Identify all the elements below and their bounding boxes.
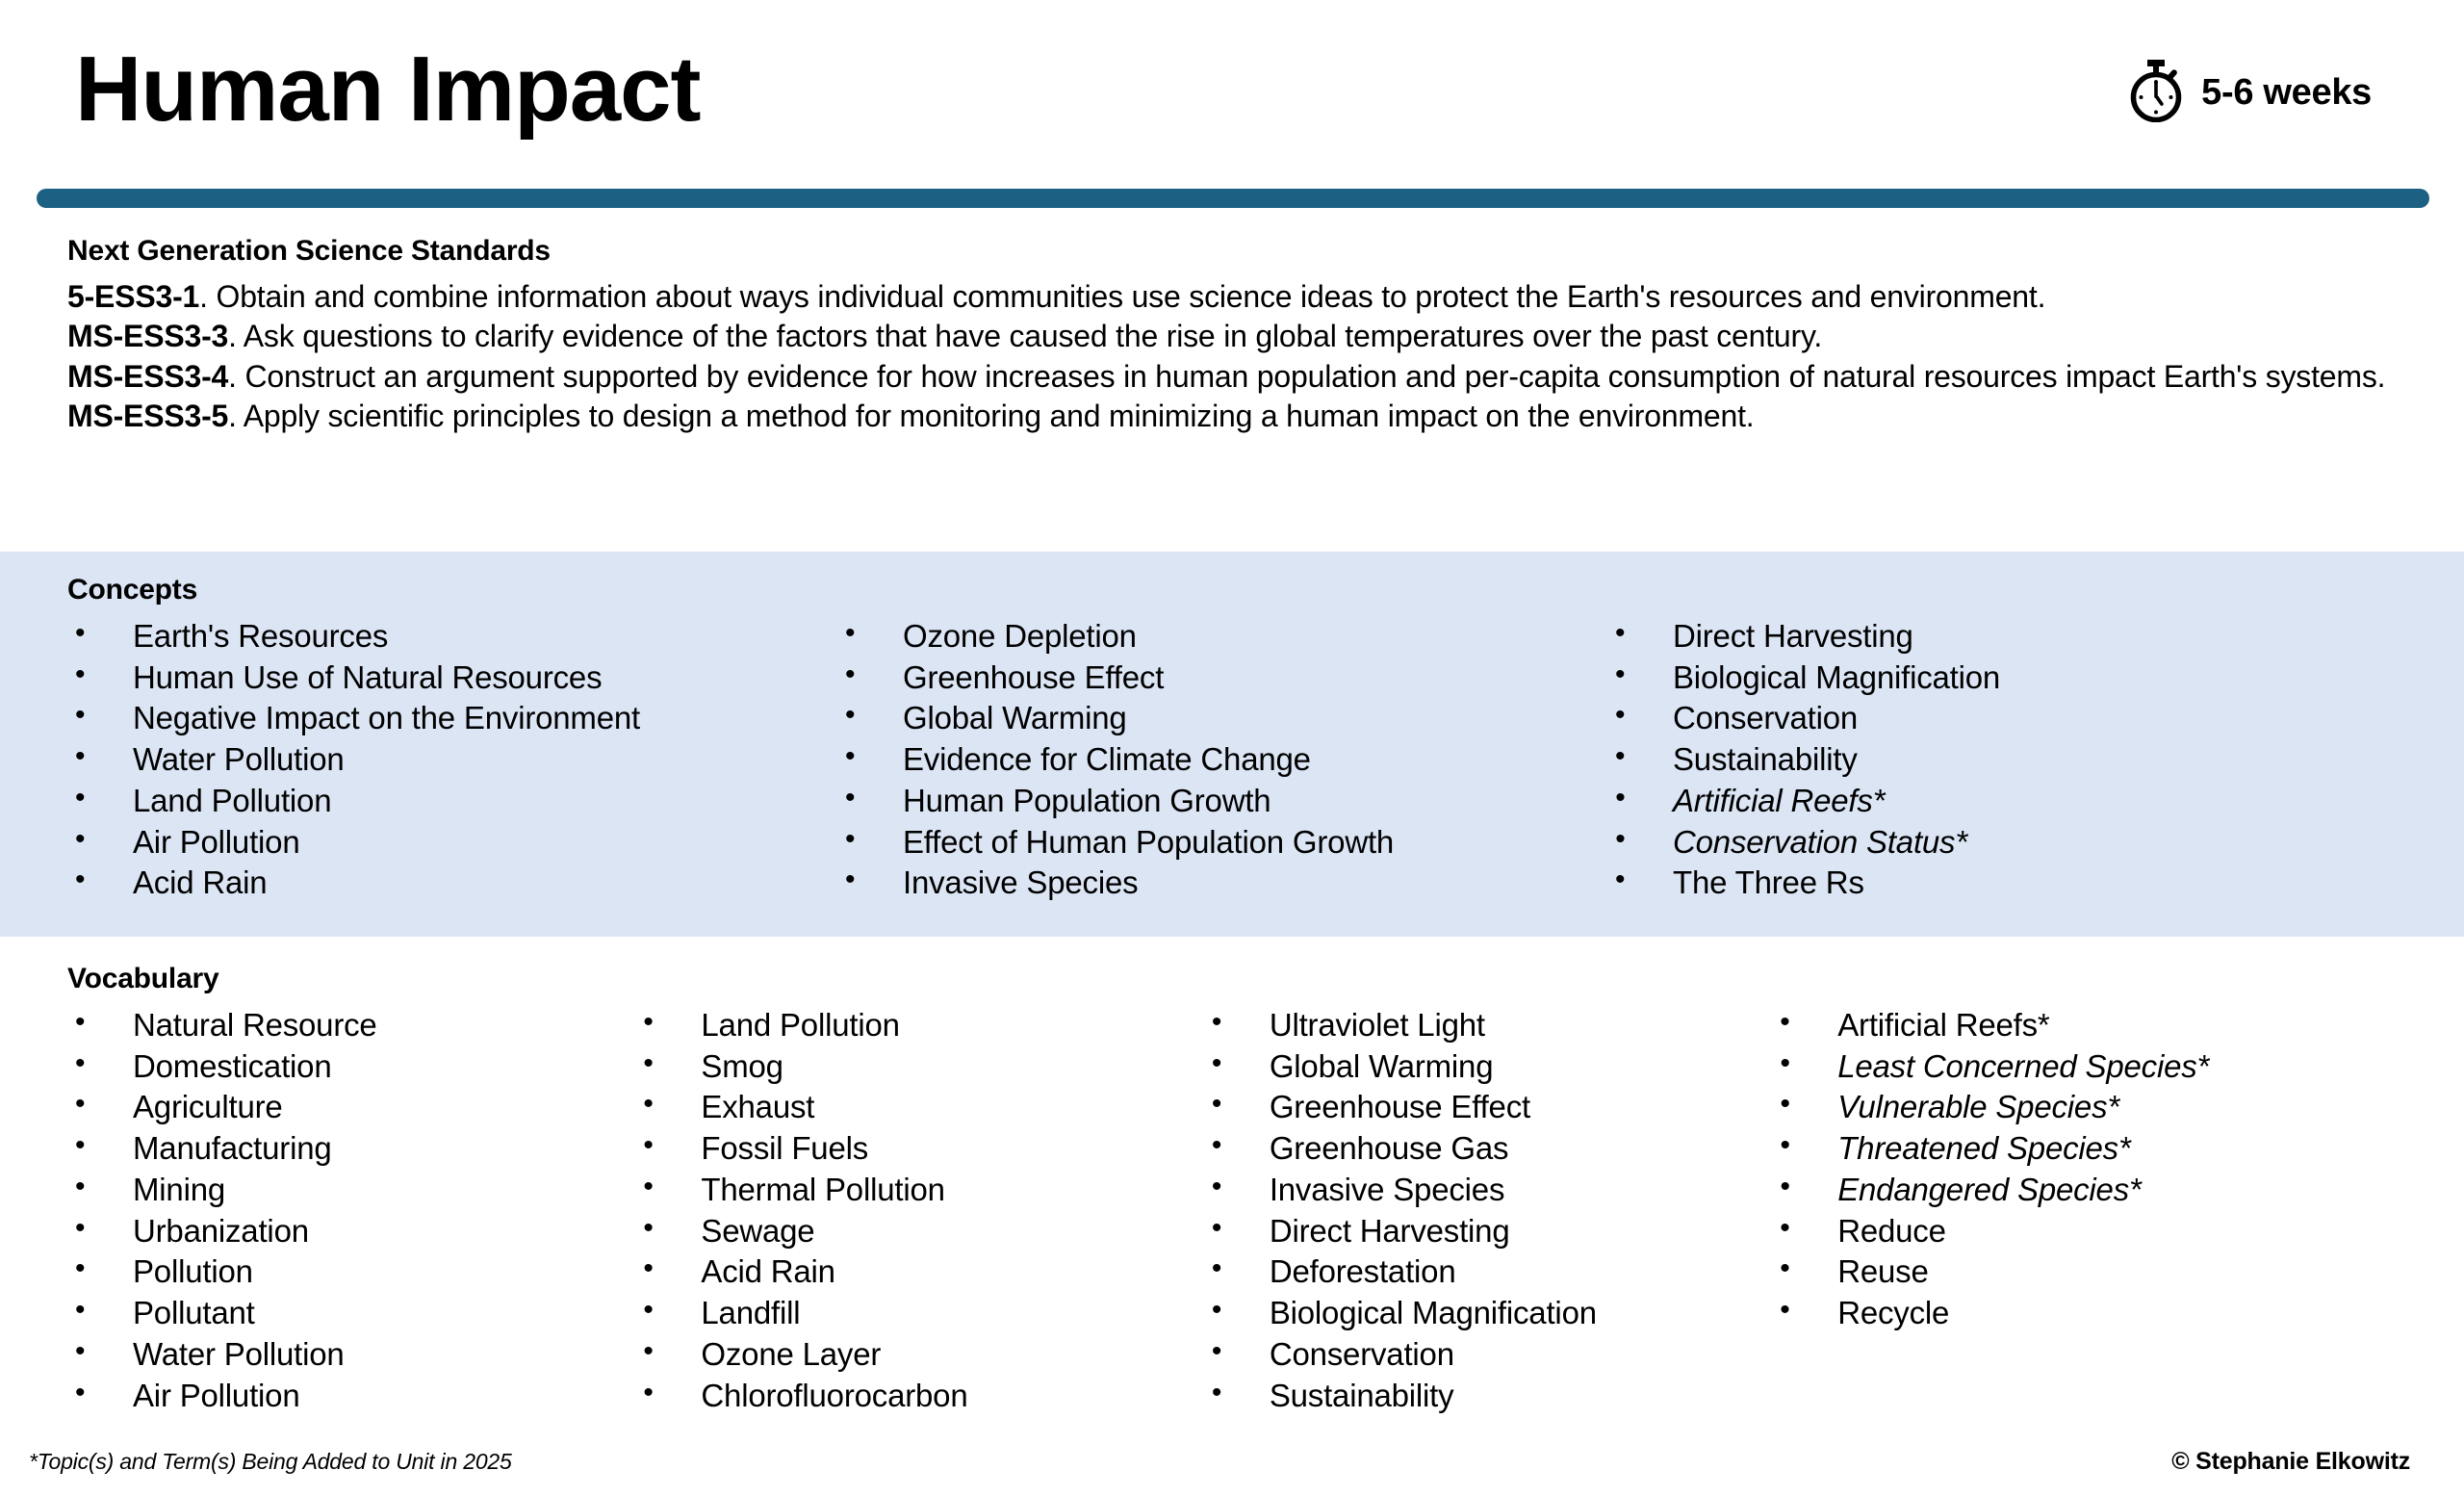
- concepts-column-3: Direct HarvestingBiological Magnificatio…: [1607, 616, 2377, 904]
- list-item: Sustainability: [1607, 739, 2377, 781]
- vocabulary-list: Natural ResourceDomesticationAgriculture…: [67, 1005, 635, 1416]
- list-item: Invasive Species: [837, 863, 1607, 904]
- standard-item: MS-ESS3-4. Construct an argument support…: [67, 357, 2406, 397]
- vocabulary-list: Ultraviolet LightGlobal WarmingGreenhous…: [1204, 1005, 1772, 1416]
- page-header: Human Impact 5-6 weeks: [0, 0, 2464, 179]
- list-item: Earth's Resources: [67, 616, 837, 658]
- list-item: Greenhouse Effect: [1204, 1087, 1772, 1128]
- list-item: Land Pollution: [635, 1005, 1203, 1046]
- standard-code: MS-ESS3-4: [67, 359, 228, 394]
- list-item: Water Pollution: [67, 1334, 635, 1376]
- list-item: Artificial Reefs*: [1772, 1005, 2435, 1046]
- standard-item: 5-ESS3-1. Obtain and combine information…: [67, 277, 2406, 317]
- duration-label: 5-6 weeks: [2201, 72, 2372, 114]
- list-item: Urbanization: [67, 1211, 635, 1252]
- concepts-section: Concepts Earth's ResourcesHuman Use of N…: [0, 552, 2464, 937]
- list-item: Deforestation: [1204, 1251, 1772, 1293]
- list-item: Agriculture: [67, 1087, 635, 1128]
- list-item: Manufacturing: [67, 1128, 635, 1170]
- list-item: Threatened Species*: [1772, 1128, 2435, 1170]
- standard-code: MS-ESS3-3: [67, 319, 228, 353]
- list-item: Ultraviolet Light: [1204, 1005, 1772, 1046]
- concepts-column-2: Ozone DepletionGreenhouse EffectGlobal W…: [837, 616, 1607, 904]
- list-item: Least Concerned Species*: [1772, 1046, 2435, 1088]
- list-item: Effect of Human Population Growth: [837, 822, 1607, 864]
- list-item: Invasive Species: [1204, 1170, 1772, 1211]
- list-item: Mining: [67, 1170, 635, 1211]
- list-item: Vulnerable Species*: [1772, 1087, 2435, 1128]
- footnote-text: *Topic(s) and Term(s) Being Added to Uni…: [29, 1449, 512, 1475]
- list-item: Evidence for Climate Change: [837, 739, 1607, 781]
- standards-list: 5-ESS3-1. Obtain and combine information…: [67, 277, 2406, 436]
- vocabulary-column-1: Natural ResourceDomesticationAgriculture…: [67, 1005, 635, 1416]
- list-item: Recycle: [1772, 1293, 2435, 1334]
- page-title: Human Impact: [75, 43, 700, 136]
- list-item: Sustainability: [1204, 1376, 1772, 1417]
- vocabulary-heading: Vocabulary: [67, 963, 2435, 995]
- list-item: Land Pollution: [67, 781, 837, 822]
- list-item: Chlorofluorocarbon: [635, 1376, 1203, 1417]
- vocabulary-columns: Natural ResourceDomesticationAgriculture…: [67, 1005, 2435, 1416]
- list-item: Human Use of Natural Resources: [67, 658, 837, 699]
- list-item: Landfill: [635, 1293, 1203, 1334]
- list-item: Biological Magnification: [1204, 1293, 1772, 1334]
- list-item: Reduce: [1772, 1211, 2435, 1252]
- standard-text: . Construct an argument supported by evi…: [228, 359, 2385, 394]
- list-item: Direct Harvesting: [1204, 1211, 1772, 1252]
- list-item: Greenhouse Effect: [837, 658, 1607, 699]
- list-item: Artificial Reefs*: [1607, 781, 2377, 822]
- list-item: Smog: [635, 1046, 1203, 1088]
- standard-item: MS-ESS3-3. Ask questions to clarify evid…: [67, 317, 2406, 356]
- vocabulary-column-2: Land PollutionSmogExhaustFossil FuelsThe…: [635, 1005, 1203, 1416]
- concepts-list: Earth's ResourcesHuman Use of Natural Re…: [67, 616, 837, 904]
- list-item: Acid Rain: [67, 863, 837, 904]
- list-item: Negative Impact on the Environment: [67, 698, 837, 739]
- list-item: Sewage: [635, 1211, 1203, 1252]
- concepts-column-1: Earth's ResourcesHuman Use of Natural Re…: [67, 616, 837, 904]
- list-item: Ozone Depletion: [837, 616, 1607, 658]
- list-item: Human Population Growth: [837, 781, 1607, 822]
- list-item: Exhaust: [635, 1087, 1203, 1128]
- unit-overview-page: Human Impact 5-6 weeks: [0, 0, 2464, 1496]
- list-item: Global Warming: [1204, 1046, 1772, 1088]
- list-item: Conservation Status*: [1607, 822, 2377, 864]
- standard-text: . Apply scientific principles to design …: [228, 399, 1754, 433]
- list-item: Domestication: [67, 1046, 635, 1088]
- standards-heading: Next Generation Science Standards: [67, 235, 2406, 268]
- standard-item: MS-ESS3-5. Apply scientific principles t…: [67, 397, 2406, 436]
- list-item: Natural Resource: [67, 1005, 635, 1046]
- list-item: Thermal Pollution: [635, 1170, 1203, 1211]
- page-footer: *Topic(s) and Term(s) Being Added to Uni…: [0, 1442, 2464, 1481]
- stopwatch-icon: [2126, 59, 2186, 127]
- vocabulary-section: Vocabulary Natural ResourceDomestication…: [67, 963, 2435, 1416]
- concepts-columns: Earth's ResourcesHuman Use of Natural Re…: [67, 616, 2425, 904]
- list-item: Fossil Fuels: [635, 1128, 1203, 1170]
- standard-code: MS-ESS3-5: [67, 399, 228, 433]
- vocabulary-list: Artificial Reefs*Least Concerned Species…: [1772, 1005, 2435, 1334]
- concepts-heading: Concepts: [67, 574, 2425, 606]
- standard-text: . Ask questions to clarify evidence of t…: [228, 319, 1822, 353]
- list-item: Conservation: [1204, 1334, 1772, 1376]
- list-item: Water Pollution: [67, 739, 837, 781]
- list-item: Endangered Species*: [1772, 1170, 2435, 1211]
- concepts-list: Direct HarvestingBiological Magnificatio…: [1607, 616, 2377, 904]
- list-item: Reuse: [1772, 1251, 2435, 1293]
- list-item: Conservation: [1607, 698, 2377, 739]
- list-item: Air Pollution: [67, 1376, 635, 1417]
- copyright-text: © Stephanie Elkowitz: [2171, 1448, 2410, 1476]
- concepts-list: Ozone DepletionGreenhouse EffectGlobal W…: [837, 616, 1607, 904]
- list-item: Direct Harvesting: [1607, 616, 2377, 658]
- list-item: Biological Magnification: [1607, 658, 2377, 699]
- list-item: Greenhouse Gas: [1204, 1128, 1772, 1170]
- standard-code: 5-ESS3-1: [67, 279, 199, 314]
- standards-section: Next Generation Science Standards 5-ESS3…: [67, 235, 2406, 436]
- list-item: Pollution: [67, 1251, 635, 1293]
- vocabulary-list: Land PollutionSmogExhaustFossil FuelsThe…: [635, 1005, 1203, 1416]
- list-item: The Three Rs: [1607, 863, 2377, 904]
- standard-text: . Obtain and combine information about w…: [199, 279, 2045, 314]
- vocabulary-column-3: Ultraviolet LightGlobal WarmingGreenhous…: [1204, 1005, 1772, 1416]
- list-item: Ozone Layer: [635, 1334, 1203, 1376]
- header-divider-bar: [37, 189, 2429, 208]
- list-item: Pollutant: [67, 1293, 635, 1334]
- vocabulary-column-4: Artificial Reefs*Least Concerned Species…: [1772, 1005, 2435, 1416]
- list-item: Air Pollution: [67, 822, 837, 864]
- list-item: Acid Rain: [635, 1251, 1203, 1293]
- list-item: Global Warming: [837, 698, 1607, 739]
- duration-badge: 5-6 weeks: [2126, 59, 2372, 127]
